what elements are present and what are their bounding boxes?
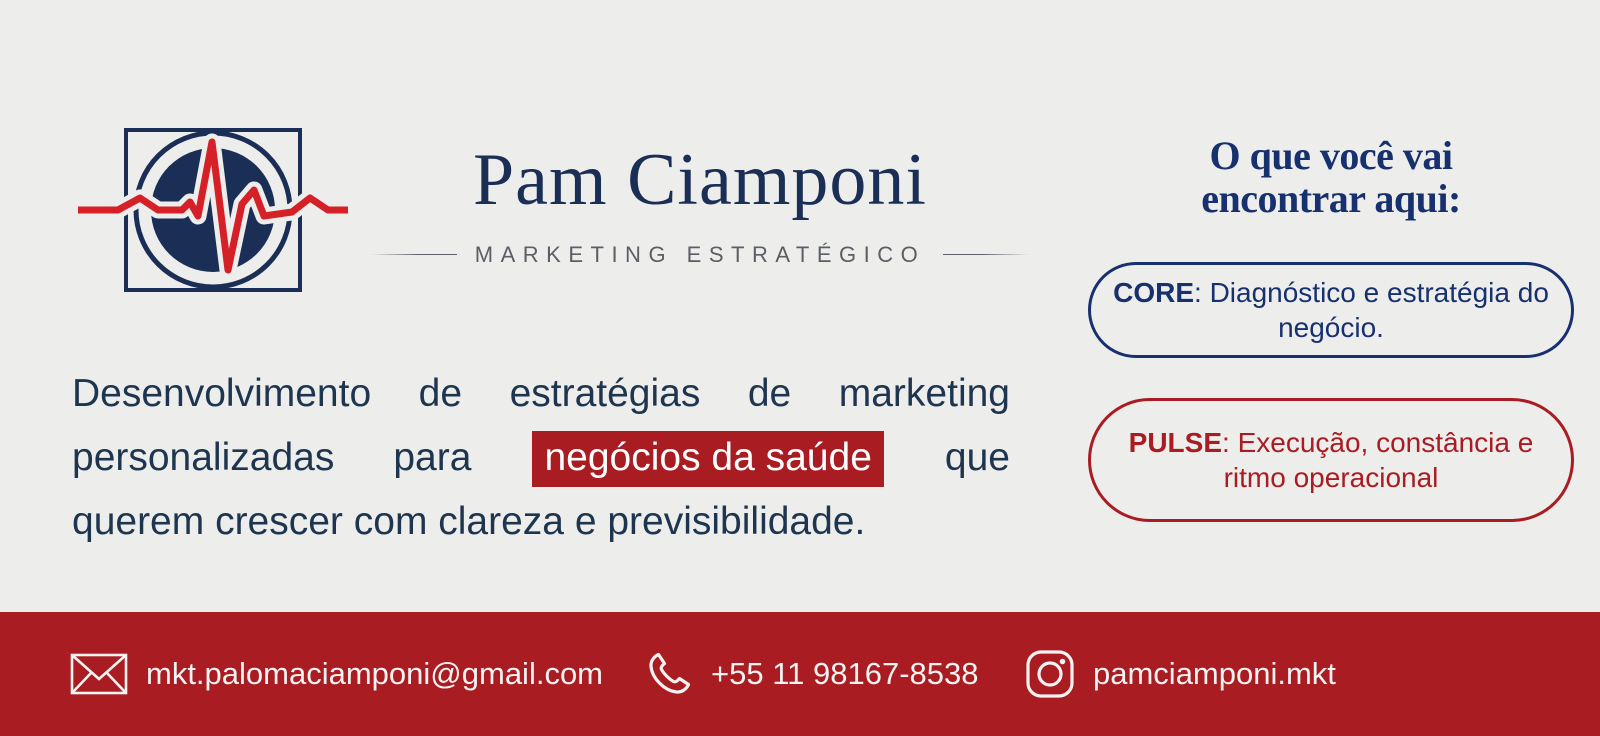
pill-pulse[interactable]: PULSE: Execução, constância e ritmo oper… [1088,398,1574,522]
marketing-banner: Pam Ciamponi MARKETING ESTRATÉGICO Desen… [0,0,1600,736]
contact-email[interactable]: mkt.palomaciamponi@gmail.com [70,653,603,695]
offerings-title-line-2: encontrar aqui: [1062,177,1600,220]
heartbeat-pulse-circle-logo-icon [78,120,348,300]
brand-wordmark: Pam Ciamponi MARKETING ESTRATÉGICO [360,142,1040,268]
pill-pulse-description: Execução, constância e ritmo operacional [1224,427,1534,493]
contact-phone[interactable]: +55 11 98167-8538 [645,650,978,698]
pill-pulse-separator: : [1222,427,1238,458]
pill-core[interactable]: CORE: Diagnóstico e estratégia do negóci… [1088,262,1574,358]
contact-footer-bar: mkt.palomaciamponi@gmail.com +55 11 9816… [0,612,1600,736]
contact-phone-text: +55 11 98167-8538 [711,656,978,692]
headline-line-1: Desenvolvimento de estratégias de market… [72,362,1010,426]
headline-paragraph: Desenvolvimento de estratégias de market… [72,362,1010,554]
envelope-icon [70,653,128,695]
pill-pulse-text: PULSE: Execução, constância e ritmo oper… [1091,425,1571,495]
headline-line-2: personalizadas para negócios da saúde qu… [72,426,1010,490]
pill-core-description: Diagnóstico e estratégia do negócio. [1210,277,1549,343]
headline-line-2-before: personalizadas para [72,436,471,479]
offerings-title-line-1: O que você vai [1062,134,1600,177]
phone-icon [645,650,693,698]
brand-tagline: MARKETING ESTRATÉGICO [475,242,925,268]
brand-area: Pam Ciamponi MARKETING ESTRATÉGICO Desen… [0,0,1060,612]
instagram-icon [1025,649,1075,699]
offerings-panel: O que você vai encontrar aqui: CORE: Dia… [1062,0,1600,612]
contact-email-text: mkt.palomaciamponi@gmail.com [146,656,603,692]
brand-name: Pam Ciamponi [360,142,1040,220]
pill-core-separator: : [1194,277,1210,308]
contact-instagram-text: pamciamponi.mkt [1093,656,1336,692]
divider-right [943,254,1029,255]
offerings-title: O que você vai encontrar aqui: [1062,134,1600,220]
headline-line-2-after: que [945,436,1010,479]
pill-pulse-keyword: PULSE [1129,427,1222,458]
pill-core-keyword: CORE [1113,277,1194,308]
headline-highlight: negócios da saúde [532,431,883,487]
headline-line-3: querem crescer com clareza e previsibili… [72,490,1010,554]
pill-core-text: CORE: Diagnóstico e estratégia do negóci… [1091,275,1571,345]
brand-tagline-row: MARKETING ESTRATÉGICO [360,242,1040,268]
contact-instagram[interactable]: pamciamponi.mkt [1025,649,1336,699]
divider-left [371,254,457,255]
